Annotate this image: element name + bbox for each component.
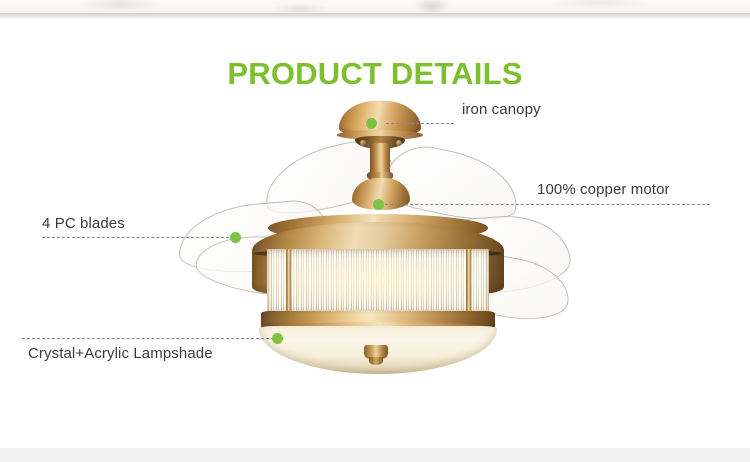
callout-label-blades: 4 PC blades [42, 215, 125, 232]
lamp-glow [283, 257, 473, 301]
callout-line-canopy [386, 123, 454, 124]
product-details-page: PRODUCT DETAILS iron canopy [0, 0, 750, 462]
callout-line-motor [380, 204, 710, 205]
callout-line-lampshade [22, 338, 274, 339]
callout-label-motor: 100% copper motor [537, 181, 670, 198]
shade-post-left [286, 249, 291, 315]
canopy-screw-right [396, 140, 402, 146]
finial-cap [369, 357, 383, 365]
callout-label-lampshade: Crystal+Acrylic Lampshade [28, 345, 213, 362]
callout-marker-blades [230, 232, 241, 243]
canopy-screw-left [360, 140, 366, 146]
callout-label-canopy: iron canopy [462, 101, 541, 118]
callout-marker-canopy [366, 118, 377, 129]
callout-marker-lampshade [272, 333, 283, 344]
shade-post-right [466, 249, 471, 315]
callout-marker-motor [373, 199, 384, 210]
callout-line-blades [42, 237, 234, 238]
